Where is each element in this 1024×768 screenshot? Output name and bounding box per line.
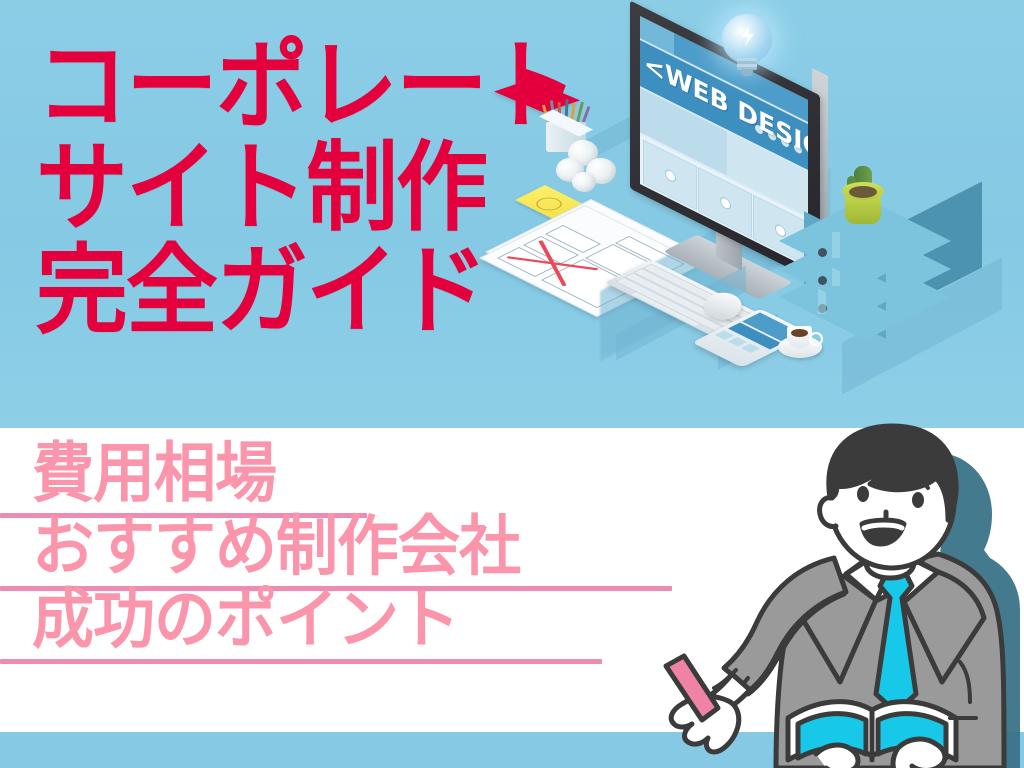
left-eye (857, 486, 869, 502)
bullet-list: 費用相場 おすすめ制作会社 成功のポイント (32, 440, 520, 660)
bullet-label-2: おすすめ制作会社 (32, 513, 520, 579)
bullet-underline-3 (0, 659, 602, 664)
bullet-row-2: おすすめ制作会社 (32, 513, 520, 576)
bullet-label-1: 費用相場 (32, 440, 520, 506)
headline-line-3: 完全ガイド (36, 245, 576, 339)
bullet-row-1: 費用相場 (32, 440, 520, 503)
light-bulb-icon (718, 14, 776, 80)
ring-binder-stack (792, 196, 992, 356)
bulb-tip (741, 69, 753, 76)
bullet-row-3: 成功のポイント (32, 586, 520, 649)
businessman-illustration (630, 418, 1024, 768)
necktie (876, 570, 916, 712)
businessman-svg (630, 418, 1024, 768)
right-hand (893, 739, 945, 768)
headline-line-1: コーポレート (36, 40, 576, 134)
headline-block: コーポレート サイト制作 完全ガイド (36, 40, 576, 333)
desk-illustration: <WEB DESIGN> (520, 0, 1024, 400)
headline-line-2: サイト制作 (36, 142, 576, 236)
bulb-glass (722, 14, 772, 64)
pot-soil (849, 186, 877, 198)
right-eye (912, 492, 924, 508)
banner-canvas: <WEB DESIGN> (0, 0, 1024, 768)
bullet-label-3: 成功のポイント (32, 586, 520, 652)
cactus-plant (842, 182, 884, 226)
